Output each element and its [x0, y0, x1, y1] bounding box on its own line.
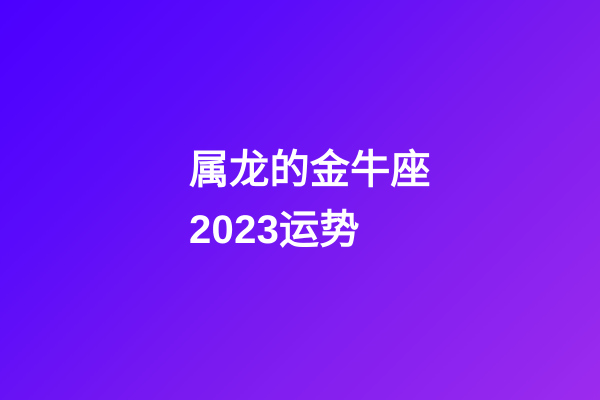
title-banner: 属龙的金牛座 2023运势 — [0, 0, 600, 400]
title-line-2: 2023运势 — [189, 200, 569, 260]
page-title: 属龙的金牛座 2023运势 — [189, 140, 569, 260]
title-line-1: 属龙的金牛座 — [189, 140, 569, 200]
